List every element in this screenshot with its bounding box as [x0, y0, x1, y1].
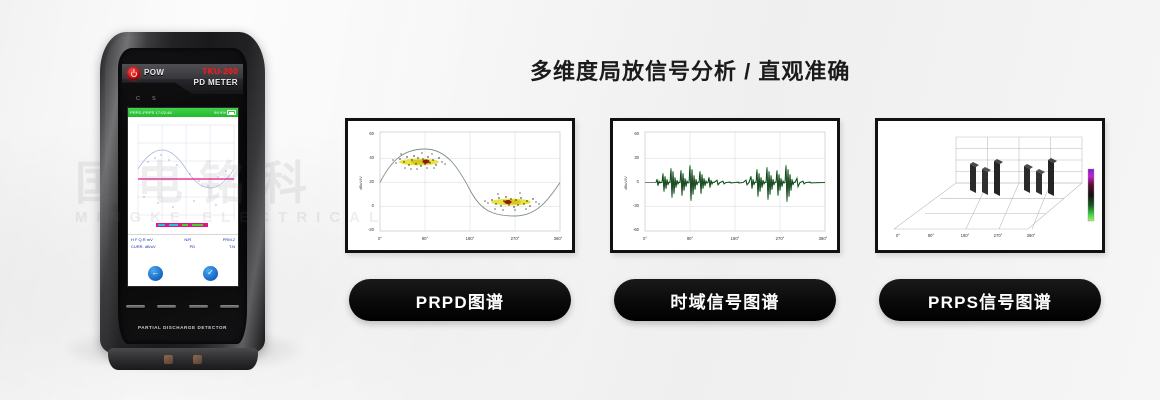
check-icon[interactable]: ✓ — [203, 266, 218, 281]
device-brand-strip: POW TKU-200 PD METER — [122, 64, 243, 94]
lcd-readout-cell: CURR. dB/uV — [131, 244, 156, 249]
device-photo: POW TKU-200 PD METER C S PRPD-PRPS 17:02… — [60, 10, 310, 390]
base-screw-icon — [193, 355, 202, 364]
power-label: POW — [144, 68, 164, 77]
port-label-s: S — [152, 96, 156, 102]
svg-text:-20: -20 — [368, 227, 375, 232]
svg-text:0°: 0° — [643, 236, 647, 241]
svg-text:180°: 180° — [961, 233, 970, 238]
svg-text:90°: 90° — [422, 236, 429, 241]
svg-text:270°: 270° — [994, 233, 1003, 238]
battery-icon — [227, 110, 236, 115]
time-domain-chart-svg: 60 30 0 -30 -60 dBuV/V — [613, 121, 837, 250]
lcd-readout-row: CURR. dB/uV PD T.N — [131, 244, 235, 249]
keypad-key[interactable] — [220, 305, 239, 309]
svg-text:-30: -30 — [633, 203, 640, 208]
lcd-plot-area — [128, 117, 238, 235]
prps-chart-frame: 0° 90° 180° 270° 360° — [875, 118, 1105, 253]
prpd-chart-svg: 60 40 20 0 -20 dBuV/V — [348, 121, 572, 250]
back-arrow-icon[interactable]: ← — [148, 266, 163, 281]
lcd-readout: H F Q.R mV N/R PRM.2 CURR. dB/uV PD T.N — [128, 235, 238, 260]
lcd-readout-cell: H F Q.R mV — [131, 237, 153, 242]
svg-text:360°: 360° — [554, 236, 563, 241]
device-base — [108, 348, 258, 370]
keypad-key[interactable] — [157, 305, 176, 309]
device-model-label: TKU-200 — [202, 66, 238, 76]
prps-chart-svg: 0° 90° 180° 270° 360° — [878, 121, 1102, 250]
lcd-status-right: 99.9% — [214, 110, 226, 115]
chart-label-prps[interactable]: PRPS信号图谱 — [879, 279, 1101, 321]
svg-text:-60: -60 — [633, 227, 640, 232]
svg-text:360°: 360° — [1027, 233, 1036, 238]
chart-label-prpd[interactable]: PRPD图谱 — [349, 279, 571, 321]
svg-text:20: 20 — [369, 179, 374, 184]
svg-text:60: 60 — [369, 131, 374, 136]
svg-text:180°: 180° — [466, 236, 475, 241]
svg-text:0: 0 — [372, 203, 375, 208]
time-domain-chart-frame: 60 30 0 -30 -60 dBuV/V — [610, 118, 840, 253]
chart-label-time-domain[interactable]: 时域信号图谱 — [614, 279, 836, 321]
svg-text:270°: 270° — [511, 236, 520, 241]
svg-text:60: 60 — [634, 131, 639, 136]
svg-text:0°: 0° — [378, 236, 382, 241]
port-label-c: C — [136, 96, 140, 102]
svg-text:90°: 90° — [687, 236, 694, 241]
keypad-key[interactable] — [189, 305, 208, 309]
chart-card-prpd: 60 40 20 0 -20 dBuV/V — [345, 118, 575, 321]
svg-text:270°: 270° — [776, 236, 785, 241]
svg-text:40: 40 — [369, 155, 374, 160]
device-port-labels: C S — [136, 96, 176, 102]
chart-card-row: 60 40 20 0 -20 dBuV/V — [345, 118, 1105, 321]
keypad-key[interactable] — [126, 305, 145, 309]
lcd-readout-cell: T.N — [229, 244, 235, 249]
lcd-button-bar: ← ✓ — [128, 260, 238, 286]
svg-text:180°: 180° — [731, 236, 740, 241]
svg-text:dBuV/V: dBuV/V — [623, 176, 628, 190]
lcd-status-left: PRPD-PRPS 17:02:46 — [130, 110, 172, 115]
page-title: 多维度局放信号分析 / 直观准确 — [530, 54, 850, 86]
svg-text:0°: 0° — [896, 233, 900, 238]
lcd-readout-cell: N/R — [184, 237, 191, 242]
lcd-readout-row: H F Q.R mV N/R PRM.2 — [131, 237, 235, 242]
svg-text:90°: 90° — [928, 233, 935, 238]
lcd-status-bar: PRPD-PRPS 17:02:46 99.9% — [128, 108, 238, 117]
svg-text:dBuV/V: dBuV/V — [358, 176, 363, 190]
prpd-chart-frame: 60 40 20 0 -20 dBuV/V — [345, 118, 575, 253]
device-keypad[interactable] — [126, 305, 239, 309]
power-icon — [131, 71, 137, 77]
device-footer-text: PARTIAL DISCHARGE DETECTOR — [118, 325, 247, 330]
device-front-face: POW TKU-200 PD METER C S PRPD-PRPS 17:02… — [118, 48, 247, 344]
lcd-readout-cell: PD — [190, 244, 196, 249]
chart-card-prps: 0° 90° 180° 270° 360° PRPS信号图谱 — [875, 118, 1105, 321]
chart-card-time-domain: 60 30 0 -30 -60 dBuV/V — [610, 118, 840, 321]
device-body: POW TKU-200 PD METER C S PRPD-PRPS 17:02… — [100, 32, 265, 354]
device-lcd-screen[interactable]: PRPD-PRPS 17:02:46 99.9% — [128, 108, 238, 286]
lcd-readout-cell: PRM.2 — [223, 237, 235, 242]
svg-text:30: 30 — [634, 155, 639, 160]
svg-text:0: 0 — [637, 179, 640, 184]
svg-text:360°: 360° — [819, 236, 828, 241]
base-screw-icon — [164, 355, 173, 364]
device-meter-label: PD METER — [193, 78, 238, 87]
power-button[interactable] — [127, 67, 140, 80]
